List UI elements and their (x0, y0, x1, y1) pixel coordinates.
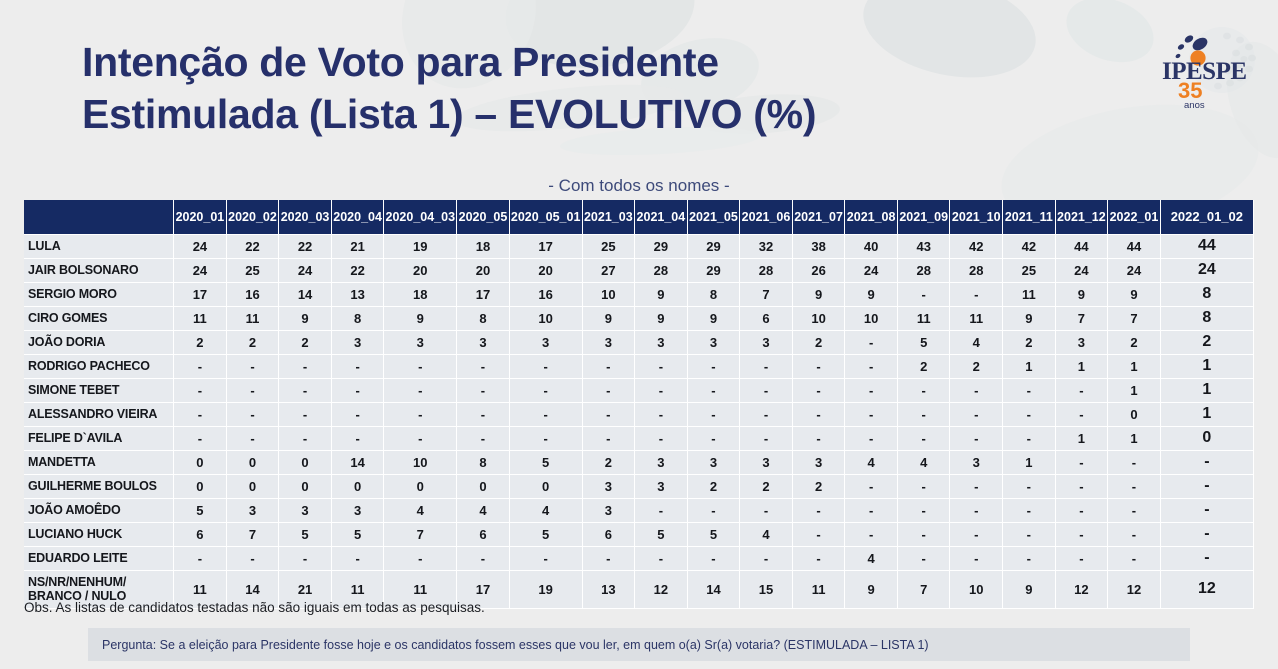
table-corner-header (24, 200, 174, 234)
cell-2021_04: 28 (635, 258, 688, 282)
cell-2021_12: - (1055, 402, 1108, 426)
cell-2022_01_02: - (1160, 498, 1253, 522)
cell-2020_03: 3 (279, 498, 332, 522)
column-header-2021_08: 2021_08 (845, 200, 898, 234)
cell-2021_09: - (897, 378, 950, 402)
column-header-2020_01: 2020_01 (174, 200, 227, 234)
cell-2020_01: 6 (174, 522, 227, 546)
cell-2021_09: 4 (897, 450, 950, 474)
cell-2021_11: 1 (1003, 354, 1056, 378)
cell-2021_06: - (740, 378, 793, 402)
row-label: SERGIO MORO (24, 282, 174, 306)
cell-2021_12: - (1055, 450, 1108, 474)
cell-2022_01_02: - (1160, 450, 1253, 474)
evolution-table-container: 2020_012020_022020_032020_042020_04_0320… (24, 200, 1254, 609)
cell-2021_03: 2 (582, 450, 635, 474)
cell-2020_01: 11 (174, 306, 227, 330)
cell-2020_04: 21 (331, 234, 384, 258)
cell-2021_09: 7 (897, 570, 950, 608)
cell-2020_05_01: 5 (509, 522, 582, 546)
column-header-2022_01: 2022_01 (1108, 200, 1161, 234)
cell-2020_04_03: - (384, 354, 457, 378)
cell-2022_01_02: 12 (1160, 570, 1253, 608)
cell-2021_07: 2 (792, 474, 845, 498)
cell-2020_05: 0 (457, 474, 510, 498)
cell-2020_03: 24 (279, 258, 332, 282)
cell-2021_11: - (1003, 498, 1056, 522)
cell-2022_01: 0 (1108, 402, 1161, 426)
cell-2021_11: - (1003, 522, 1056, 546)
cell-2020_05_01: 17 (509, 234, 582, 258)
cell-2020_02: - (226, 378, 279, 402)
cell-2021_04: - (635, 498, 688, 522)
cell-2020_05_01: - (509, 354, 582, 378)
table-row: SERGIO MORO171614131817161098799--11998 (24, 282, 1254, 306)
cell-2020_02: - (226, 546, 279, 570)
row-label: CIRO GOMES (24, 306, 174, 330)
column-header-2020_04: 2020_04 (331, 200, 384, 234)
cell-2021_06: 4 (740, 522, 793, 546)
cell-2021_04: - (635, 426, 688, 450)
cell-2022_01_02: 1 (1160, 354, 1253, 378)
cell-2021_03: 3 (582, 330, 635, 354)
cell-2021_06: - (740, 546, 793, 570)
column-header-2022_01_02: 2022_01_02 (1160, 200, 1253, 234)
cell-2021_05: 3 (687, 450, 740, 474)
cell-2021_06: 2 (740, 474, 793, 498)
cell-2021_04: - (635, 402, 688, 426)
question-text: Pergunta: Se a eleição para Presidente f… (102, 638, 929, 652)
cell-2021_12: 1 (1055, 426, 1108, 450)
cell-2021_05: - (687, 498, 740, 522)
cell-2020_02: - (226, 354, 279, 378)
cell-2021_05: - (687, 354, 740, 378)
column-header-2020_05_01: 2020_05_01 (509, 200, 582, 234)
cell-2022_01_02: 8 (1160, 282, 1253, 306)
cell-2020_04: 8 (331, 306, 384, 330)
cell-2021_11: 9 (1003, 306, 1056, 330)
cell-2020_04_03: 20 (384, 258, 457, 282)
cell-2022_01: 9 (1108, 282, 1161, 306)
cell-2020_02: 22 (226, 234, 279, 258)
cell-2020_04_03: - (384, 402, 457, 426)
cell-2020_05: 4 (457, 498, 510, 522)
cell-2020_04: 22 (331, 258, 384, 282)
cell-2020_03: - (279, 546, 332, 570)
cell-2021_11: 9 (1003, 570, 1056, 608)
cell-2021_03: - (582, 426, 635, 450)
cell-2021_09: - (897, 546, 950, 570)
table-row: GUILHERME BOULOS000000033222------- (24, 474, 1254, 498)
cell-2021_07: 9 (792, 282, 845, 306)
cell-2022_01: 7 (1108, 306, 1161, 330)
column-header-2021_12: 2021_12 (1055, 200, 1108, 234)
evolution-table: 2020_012020_022020_032020_042020_04_0320… (24, 200, 1254, 609)
cell-2020_05_01: 20 (509, 258, 582, 282)
cell-2020_01: 24 (174, 234, 227, 258)
cell-2020_04: 5 (331, 522, 384, 546)
cell-2021_03: 3 (582, 498, 635, 522)
cell-2021_05: - (687, 546, 740, 570)
cell-2020_04: 3 (331, 498, 384, 522)
cell-2021_05: 29 (687, 234, 740, 258)
cell-2021_12: - (1055, 546, 1108, 570)
cell-2020_04_03: - (384, 546, 457, 570)
cell-2021_03: 3 (582, 474, 635, 498)
cell-2020_01: - (174, 546, 227, 570)
cell-2021_06: 3 (740, 330, 793, 354)
cell-2020_04: - (331, 402, 384, 426)
table-row: SIMONE TEBET-----------------11 (24, 378, 1254, 402)
cell-2021_10: - (950, 426, 1003, 450)
cell-2021_08: - (845, 378, 898, 402)
cell-2020_01: - (174, 402, 227, 426)
cell-2020_04_03: 4 (384, 498, 457, 522)
table-row: JAIR BOLSONARO24252422202020272829282624… (24, 258, 1254, 282)
cell-2021_08: - (845, 498, 898, 522)
cell-2021_07: - (792, 498, 845, 522)
row-label: ALESSANDRO VIEIRA (24, 402, 174, 426)
cell-2021_12: - (1055, 474, 1108, 498)
cell-2020_04: - (331, 378, 384, 402)
cell-2022_01_02: 8 (1160, 306, 1253, 330)
cell-2020_04: - (331, 354, 384, 378)
cell-2020_04_03: 10 (384, 450, 457, 474)
table-row: CIRO GOMES11119898109996101011119778 (24, 306, 1254, 330)
cell-2022_01: 1 (1108, 426, 1161, 450)
column-header-2021_09: 2021_09 (897, 200, 950, 234)
cell-2021_10: - (950, 474, 1003, 498)
cell-2020_05: 8 (457, 306, 510, 330)
cell-2021_12: 44 (1055, 234, 1108, 258)
cell-2020_01: 5 (174, 498, 227, 522)
cell-2021_11: 25 (1003, 258, 1056, 282)
cell-2021_12: - (1055, 522, 1108, 546)
cell-2021_07: 3 (792, 450, 845, 474)
cell-2021_04: 29 (635, 234, 688, 258)
row-label: RODRIGO PACHECO (24, 354, 174, 378)
cell-2020_05_01: 0 (509, 474, 582, 498)
cell-2022_01_02: 24 (1160, 258, 1253, 282)
cell-2022_01: 1 (1108, 378, 1161, 402)
cell-2022_01: - (1108, 498, 1161, 522)
cell-2020_04: 3 (331, 330, 384, 354)
cell-2021_07: - (792, 402, 845, 426)
cell-2021_11: - (1003, 426, 1056, 450)
cell-2021_03: 10 (582, 282, 635, 306)
cell-2022_01_02: 0 (1160, 426, 1253, 450)
cell-2021_04: 3 (635, 474, 688, 498)
cell-2020_01: 0 (174, 450, 227, 474)
cell-2021_10: 3 (950, 450, 1003, 474)
cell-2021_06: 28 (740, 258, 793, 282)
cell-2022_01: - (1108, 522, 1161, 546)
cell-2020_03: - (279, 426, 332, 450)
cell-2022_01: 12 (1108, 570, 1161, 608)
cell-2020_03: 14 (279, 282, 332, 306)
cell-2021_07: - (792, 522, 845, 546)
table-row: RODRIGO PACHECO-------------221111 (24, 354, 1254, 378)
cell-2021_04: 9 (635, 306, 688, 330)
cell-2021_05: 5 (687, 522, 740, 546)
cell-2020_01: - (174, 378, 227, 402)
cell-2020_04: 0 (331, 474, 384, 498)
cell-2020_05_01: - (509, 546, 582, 570)
cell-2020_02: - (226, 402, 279, 426)
cell-2022_01_02: 1 (1160, 378, 1253, 402)
cell-2021_05: 3 (687, 330, 740, 354)
row-label: EDUARDO LEITE (24, 546, 174, 570)
cell-2020_01: - (174, 426, 227, 450)
cell-2020_05: - (457, 546, 510, 570)
cell-2021_10: - (950, 498, 1003, 522)
cell-2021_03: 27 (582, 258, 635, 282)
cell-2021_12: - (1055, 378, 1108, 402)
cell-2021_03: - (582, 402, 635, 426)
cell-2021_12: 9 (1055, 282, 1108, 306)
column-header-2021_04: 2021_04 (635, 200, 688, 234)
cell-2020_05: 20 (457, 258, 510, 282)
cell-2021_05: 8 (687, 282, 740, 306)
cell-2021_07: - (792, 426, 845, 450)
cell-2021_11: - (1003, 546, 1056, 570)
cell-2020_04_03: - (384, 426, 457, 450)
cell-2022_01: 2 (1108, 330, 1161, 354)
table-body: LULA242222211918172529293238404342424444… (24, 234, 1254, 608)
cell-2021_10: - (950, 282, 1003, 306)
cell-2021_08: - (845, 474, 898, 498)
column-header-2021_03: 2021_03 (582, 200, 635, 234)
cell-2020_05_01: 5 (509, 450, 582, 474)
table-row: LUCIANO HUCK67557656554-------- (24, 522, 1254, 546)
cell-2021_09: 5 (897, 330, 950, 354)
cell-2020_01: - (174, 354, 227, 378)
cell-2021_06: 32 (740, 234, 793, 258)
cell-2021_08: - (845, 402, 898, 426)
cell-2020_02: - (226, 426, 279, 450)
page-subtitle: - Com todos os nomes - (0, 176, 1278, 196)
cell-2021_08: 10 (845, 306, 898, 330)
cell-2022_01: 24 (1108, 258, 1161, 282)
cell-2021_08: 4 (845, 546, 898, 570)
cell-2021_09: 43 (897, 234, 950, 258)
cell-2021_03: - (582, 546, 635, 570)
cell-2021_10: - (950, 378, 1003, 402)
cell-2021_11: 11 (1003, 282, 1056, 306)
cell-2020_02: 25 (226, 258, 279, 282)
cell-2021_12: 24 (1055, 258, 1108, 282)
cell-2021_03: - (582, 378, 635, 402)
cell-2020_02: 16 (226, 282, 279, 306)
column-header-2021_11: 2021_11 (1003, 200, 1056, 234)
cell-2020_05: - (457, 354, 510, 378)
cell-2021_07: 26 (792, 258, 845, 282)
cell-2021_11: 2 (1003, 330, 1056, 354)
cell-2020_05: - (457, 402, 510, 426)
cell-2021_12: 12 (1055, 570, 1108, 608)
cell-2020_03: 0 (279, 450, 332, 474)
row-label: FELIPE D`AVILA (24, 426, 174, 450)
cell-2021_09: 11 (897, 306, 950, 330)
row-label: LUCIANO HUCK (24, 522, 174, 546)
cell-2020_05: 3 (457, 330, 510, 354)
cell-2022_01_02: 44 (1160, 234, 1253, 258)
cell-2021_06: 3 (740, 450, 793, 474)
cell-2020_05_01: 19 (509, 570, 582, 608)
cell-2022_01_02: - (1160, 474, 1253, 498)
cell-2020_03: 9 (279, 306, 332, 330)
cell-2020_04_03: 18 (384, 282, 457, 306)
cell-2020_04_03: 9 (384, 306, 457, 330)
cell-2020_04_03: - (384, 378, 457, 402)
cell-2022_01: - (1108, 474, 1161, 498)
cell-2021_03: 6 (582, 522, 635, 546)
cell-2022_01: - (1108, 546, 1161, 570)
cell-2021_09: - (897, 522, 950, 546)
cell-2021_11: 42 (1003, 234, 1056, 258)
cell-2021_11: 1 (1003, 450, 1056, 474)
logo-years-label: anos (1184, 100, 1205, 110)
cell-2021_06: - (740, 402, 793, 426)
cell-2021_08: - (845, 426, 898, 450)
cell-2021_12: 3 (1055, 330, 1108, 354)
cell-2021_05: - (687, 378, 740, 402)
cell-2020_03: 2 (279, 330, 332, 354)
cell-2021_08: - (845, 354, 898, 378)
cell-2021_09: - (897, 498, 950, 522)
table-row: FELIPE D`AVILA----------------110 (24, 426, 1254, 450)
cell-2020_05: 8 (457, 450, 510, 474)
cell-2020_02: 0 (226, 474, 279, 498)
cell-2020_03: 5 (279, 522, 332, 546)
ipespe-logo: IPESPE 35 anos (1148, 16, 1264, 110)
cell-2020_04: 14 (331, 450, 384, 474)
cell-2020_05_01: 3 (509, 330, 582, 354)
cell-2021_11: - (1003, 474, 1056, 498)
column-header-2021_06: 2021_06 (740, 200, 793, 234)
cell-2020_05_01: 16 (509, 282, 582, 306)
column-header-2020_02: 2020_02 (226, 200, 279, 234)
cell-2021_07: - (792, 546, 845, 570)
cell-2020_01: 24 (174, 258, 227, 282)
cell-2020_01: 2 (174, 330, 227, 354)
cell-2020_04: 13 (331, 282, 384, 306)
cell-2021_07: - (792, 354, 845, 378)
cell-2020_05_01: 10 (509, 306, 582, 330)
cell-2021_05: 29 (687, 258, 740, 282)
cell-2021_07: 10 (792, 306, 845, 330)
cell-2021_12: - (1055, 498, 1108, 522)
cell-2021_04: 9 (635, 282, 688, 306)
cell-2021_04: 12 (635, 570, 688, 608)
cell-2021_09: 2 (897, 354, 950, 378)
cell-2021_07: 2 (792, 330, 845, 354)
cell-2022_01: 44 (1108, 234, 1161, 258)
cell-2021_09: - (897, 474, 950, 498)
cell-2021_03: - (582, 354, 635, 378)
cell-2021_08: 4 (845, 450, 898, 474)
cell-2021_10: - (950, 402, 1003, 426)
cell-2020_04: - (331, 546, 384, 570)
column-header-2021_07: 2021_07 (792, 200, 845, 234)
cell-2020_05: - (457, 378, 510, 402)
cell-2021_10: 28 (950, 258, 1003, 282)
cell-2020_02: 11 (226, 306, 279, 330)
cell-2020_05_01: - (509, 402, 582, 426)
cell-2021_04: 5 (635, 522, 688, 546)
cell-2021_05: 14 (687, 570, 740, 608)
column-header-2021_10: 2021_10 (950, 200, 1003, 234)
table-row: EDUARDO LEITE------------4------ (24, 546, 1254, 570)
cell-2020_05: 6 (457, 522, 510, 546)
cell-2021_07: 11 (792, 570, 845, 608)
row-label: JOÃO AMOÊDO (24, 498, 174, 522)
cell-2021_06: - (740, 426, 793, 450)
cell-2021_07: - (792, 378, 845, 402)
cell-2022_01_02: 1 (1160, 402, 1253, 426)
cell-2021_04: - (635, 546, 688, 570)
cell-2021_06: 7 (740, 282, 793, 306)
table-row: JOÃO DORIA222333333332-542322 (24, 330, 1254, 354)
table-row: ALESSANDRO VIEIRA-----------------01 (24, 402, 1254, 426)
cell-2021_05: 2 (687, 474, 740, 498)
row-label: MANDETTA (24, 450, 174, 474)
cell-2020_05_01: 4 (509, 498, 582, 522)
column-header-2021_05: 2021_05 (687, 200, 740, 234)
cell-2021_04: 3 (635, 450, 688, 474)
cell-2020_03: - (279, 354, 332, 378)
row-label: JOÃO DORIA (24, 330, 174, 354)
table-row: LULA242222211918172529293238404342424444… (24, 234, 1254, 258)
row-label: GUILHERME BOULOS (24, 474, 174, 498)
page-title-line-2: Estimulada (Lista 1) – EVOLUTIVO (%) (82, 88, 1082, 140)
cell-2020_03: 0 (279, 474, 332, 498)
cell-2021_11: - (1003, 402, 1056, 426)
cell-2020_04_03: 0 (384, 474, 457, 498)
cell-2021_08: - (845, 330, 898, 354)
slide-root: Intenção de Voto para Presidente Estimul… (0, 0, 1278, 669)
cell-2021_05: - (687, 426, 740, 450)
cell-2020_04: - (331, 426, 384, 450)
cell-2021_08: 9 (845, 570, 898, 608)
cell-2020_05: 17 (457, 282, 510, 306)
cell-2020_05_01: - (509, 378, 582, 402)
page-title-line-1: Intenção de Voto para Presidente (82, 36, 1082, 88)
cell-2020_03: - (279, 378, 332, 402)
cell-2021_07: 38 (792, 234, 845, 258)
cell-2020_05: 18 (457, 234, 510, 258)
cell-2021_08: - (845, 522, 898, 546)
cell-2022_01_02: - (1160, 546, 1253, 570)
cell-2020_02: 3 (226, 498, 279, 522)
question-footer-bar: Pergunta: Se a eleição para Presidente f… (88, 628, 1190, 661)
cell-2021_09: 28 (897, 258, 950, 282)
cell-2021_05: - (687, 402, 740, 426)
cell-2021_10: 2 (950, 354, 1003, 378)
logo-wordmark: IPESPE (1162, 58, 1247, 85)
cell-2021_04: 3 (635, 330, 688, 354)
cell-2022_01: 1 (1108, 354, 1161, 378)
cell-2020_04_03: 19 (384, 234, 457, 258)
cell-2021_12: 7 (1055, 306, 1108, 330)
row-label: SIMONE TEBET (24, 378, 174, 402)
cell-2021_03: 13 (582, 570, 635, 608)
cell-2020_05_01: - (509, 426, 582, 450)
cell-2020_02: 0 (226, 450, 279, 474)
cell-2021_10: 4 (950, 330, 1003, 354)
cell-2021_06: - (740, 498, 793, 522)
cell-2021_10: - (950, 546, 1003, 570)
